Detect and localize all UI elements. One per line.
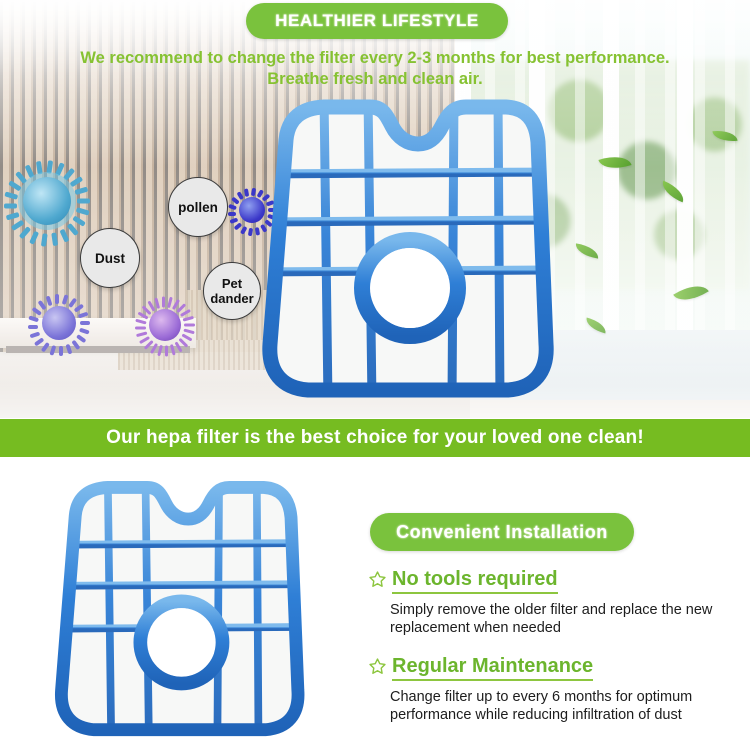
feature-no-tools: No tools required Simply remove the olde… [368, 568, 730, 637]
value-banner: Our hepa filter is the best choice for y… [0, 419, 750, 457]
feature-body: Simply remove the older filter and repla… [390, 601, 730, 637]
healthier-lifestyle-badge: HEALTHIER LIFESTYLE [246, 3, 508, 39]
feature-regular-maintenance: Regular Maintenance Change filter up to … [368, 655, 740, 724]
filter-illustration [258, 96, 554, 402]
dust-label-text: Dust [95, 251, 125, 266]
feature-title: No tools required [392, 568, 558, 594]
healthier-lifestyle-text: HEALTHIER LIFESTYLE [275, 11, 479, 31]
dust-label: Dust [80, 228, 140, 288]
header-subtitle-line1: We recommend to change the filter every … [40, 48, 710, 69]
star-icon [368, 570, 387, 589]
star-icon [368, 657, 387, 676]
convenient-installation-text: Convenient Installation [396, 522, 608, 543]
pet-dander-label-text: Pet dander [210, 276, 254, 306]
hepa-filter-main [258, 96, 554, 402]
product-infographic: Dust pollen Pet dander [0, 0, 750, 750]
pollen-label: pollen [168, 177, 228, 237]
virus-purple-left [28, 292, 90, 354]
header-subtitle-line2: Breathe fresh and clean air. [40, 69, 710, 90]
virus-purple-right [136, 296, 194, 354]
feature-title: Regular Maintenance [392, 655, 593, 681]
value-banner-text: Our hepa filter is the best choice for y… [106, 427, 644, 449]
hepa-filter-secondary [42, 478, 314, 740]
feature-body: Change filter up to every 6 months for o… [390, 688, 740, 724]
header-subtitle: We recommend to change the filter every … [40, 48, 710, 90]
virus-cyan [4, 158, 90, 244]
convenient-installation-badge: Convenient Installation [370, 513, 634, 551]
pet-dander-label: Pet dander [203, 262, 261, 320]
pollen-label-text: pollen [178, 200, 218, 215]
filter-illustration [42, 478, 314, 740]
